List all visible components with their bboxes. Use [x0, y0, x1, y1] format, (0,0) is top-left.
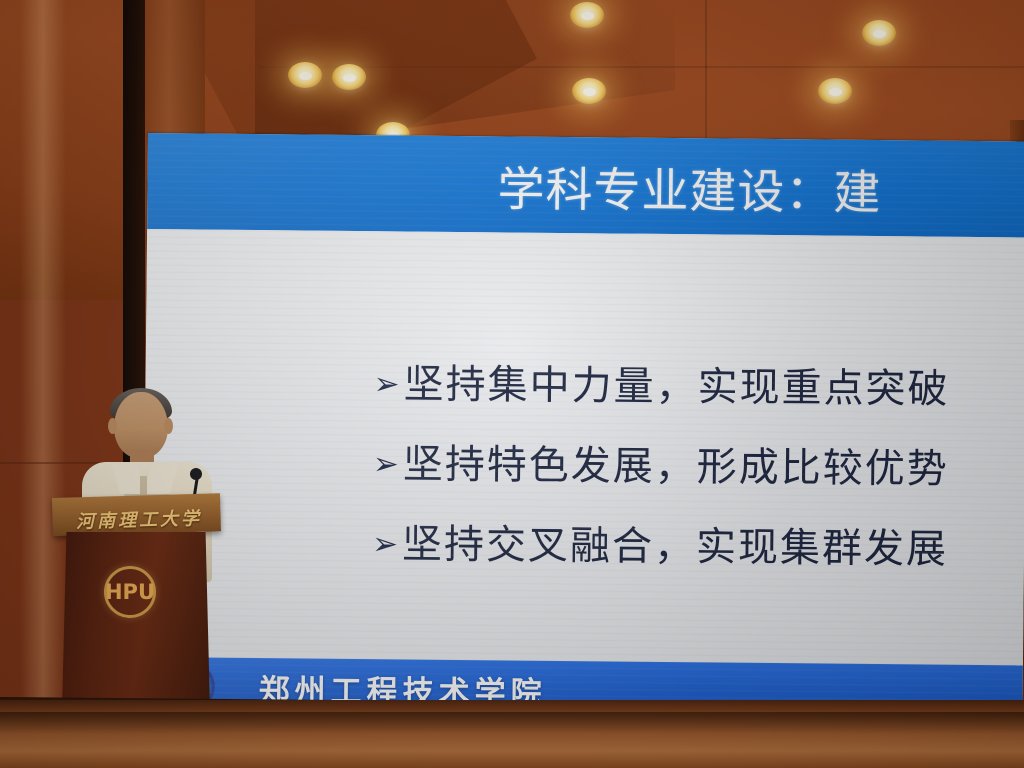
ceiling-light — [332, 64, 366, 90]
bullet-item: ➢ 坚持集中力量，实现重点突破 — [373, 351, 1024, 415]
bullet-text: 坚持交叉融合，实现集群发展 — [402, 511, 949, 574]
ceiling-light — [288, 62, 322, 88]
slide-title-bar: 学科专业建设：建 — [147, 133, 1024, 237]
lectern-engraving: 河南理工大学 — [76, 504, 203, 534]
projection-screen: 学科专业建设：建 ➢ 坚持集中力量，实现重点突破 ➢ 坚持特色发展，形成比较优势… — [142, 133, 1024, 723]
slide-title: 学科专业建设：建 — [497, 150, 882, 223]
speaker-ear — [108, 418, 117, 434]
ceiling-light — [862, 20, 896, 46]
slide-body: ➢ 坚持集中力量，实现重点突破 ➢ 坚持特色发展，形成比较优势 ➢ 坚持交叉融合… — [143, 229, 1024, 665]
bullet-arrow-icon: ➢ — [372, 529, 400, 560]
bullet-arrow-icon: ➢ — [373, 449, 401, 480]
stage-front — [0, 700, 1024, 768]
lectern-body — [62, 532, 210, 710]
bullet-item: ➢ 坚持特色发展，形成比较优势 — [373, 431, 1024, 495]
ceiling-light — [572, 78, 606, 104]
bullet-item: ➢ 坚持交叉融合，实现集群发展 — [372, 511, 1024, 575]
photo-scene: 学科专业建设：建 ➢ 坚持集中力量，实现重点突破 ➢ 坚持特色发展，形成比较优势… — [0, 0, 1024, 768]
ceiling-light — [570, 2, 604, 28]
bullet-text: 坚持集中力量，实现重点突破 — [403, 351, 950, 414]
stage-shadow — [0, 712, 1024, 734]
ceiling-light — [818, 78, 852, 104]
speaker-ear — [164, 418, 173, 434]
speaker-head — [114, 392, 168, 458]
bullet-list: ➢ 坚持集中力量，实现重点突破 ➢ 坚持特色发展，形成比较优势 ➢ 坚持交叉融合… — [372, 351, 1024, 597]
bullet-text: 坚持特色发展，形成比较优势 — [403, 431, 950, 494]
lectern-monogram: HPU — [107, 569, 153, 615]
lectern-emblem-icon: HPU — [104, 566, 156, 618]
lectern: 河南理工大学 HPU — [52, 498, 220, 710]
bullet-arrow-icon: ➢ — [373, 369, 401, 400]
microphone-icon — [190, 468, 202, 480]
